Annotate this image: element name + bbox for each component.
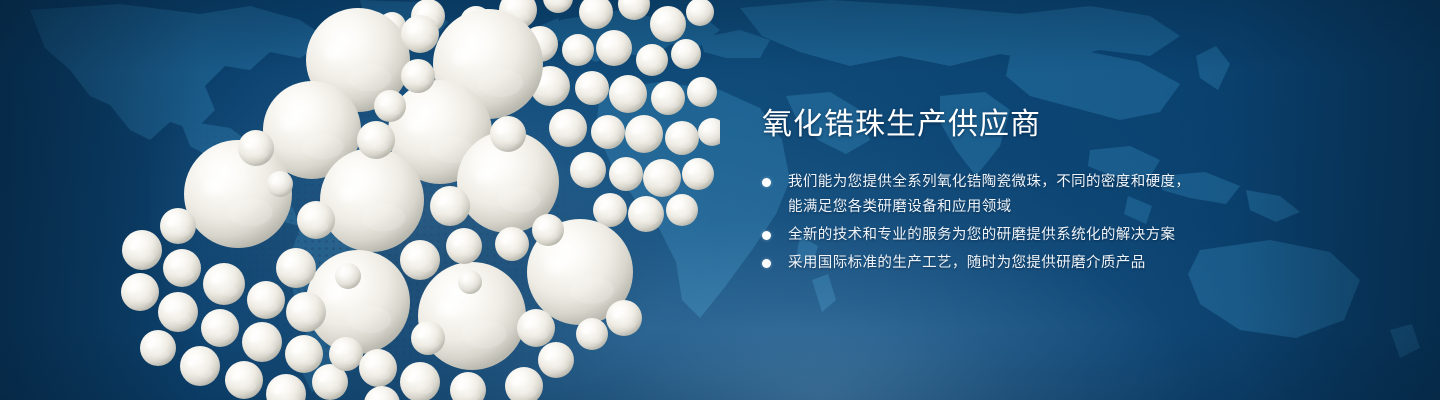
banner-copy: 氧化锆珠生产供应商 我们能为您提供全系列氧化锆陶瓷微珠，不同的密度和硬度， 能满… <box>762 106 1362 279</box>
zirconia-ceramic-beads-photo <box>120 0 720 400</box>
feature-item: 采用国际标准的生产工艺，随时为您提供研磨介质产品 <box>762 251 1362 276</box>
feature-line: 全新的技术和专业的服务为您的研磨提供系统化的解决方案 <box>788 223 1362 248</box>
bullet-dot-icon <box>762 231 771 240</box>
bullet-dot-icon <box>762 178 771 187</box>
bullet-dot-icon <box>762 259 771 268</box>
feature-item: 我们能为您提供全系列氧化锆陶瓷微珠，不同的密度和硬度， 能满足您各类研磨设备和应… <box>762 170 1362 220</box>
banner-feature-list: 我们能为您提供全系列氧化锆陶瓷微珠，不同的密度和硬度， 能满足您各类研磨设备和应… <box>762 170 1362 276</box>
banner-headline: 氧化锆珠生产供应商 <box>762 106 1362 144</box>
feature-line: 我们能为您提供全系列氧化锆陶瓷微珠，不同的密度和硬度， <box>788 170 1362 195</box>
hero-banner: 氧化锆珠生产供应商 我们能为您提供全系列氧化锆陶瓷微珠，不同的密度和硬度， 能满… <box>0 0 1440 400</box>
feature-line: 采用国际标准的生产工艺，随时为您提供研磨介质产品 <box>788 251 1362 276</box>
feature-line: 能满足您各类研磨设备和应用领域 <box>788 195 1362 220</box>
feature-item: 全新的技术和专业的服务为您的研磨提供系统化的解决方案 <box>762 223 1362 248</box>
